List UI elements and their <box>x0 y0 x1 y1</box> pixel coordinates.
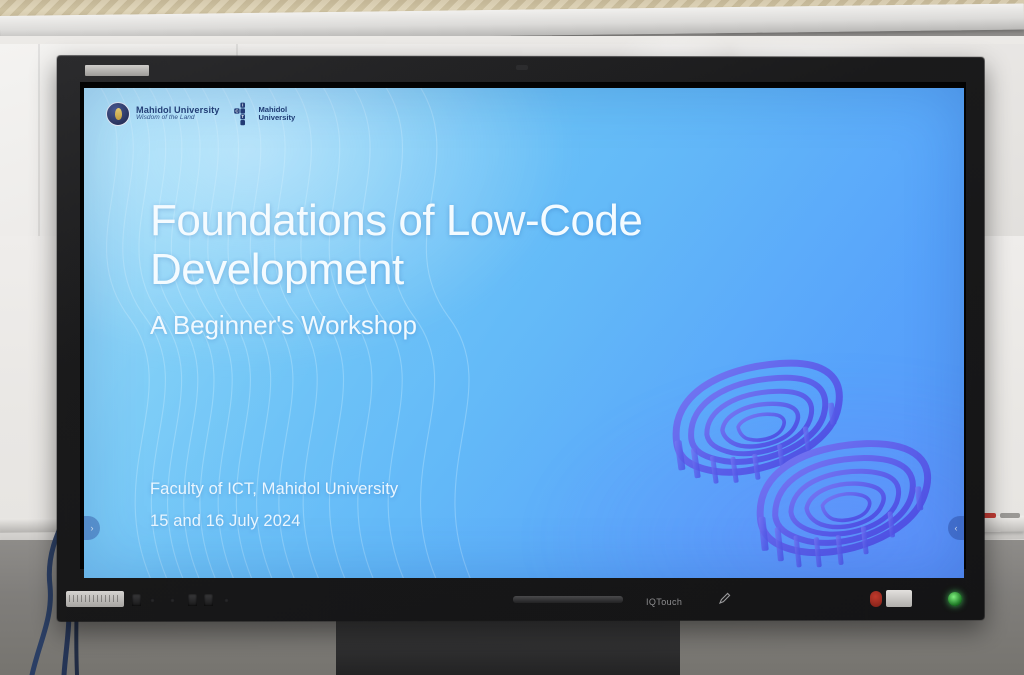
display-stand-base <box>336 612 680 675</box>
hdmi-port[interactable] <box>188 594 197 606</box>
mahidol-seal-icon <box>106 102 130 126</box>
ir-receiver <box>870 591 882 607</box>
slide-subtitle: A Beginner's Workshop <box>150 310 710 341</box>
stylus-icon <box>718 591 732 605</box>
usb-port[interactable] <box>132 594 141 606</box>
photo-scene: IQTouch <box>0 0 1024 675</box>
display-top-label <box>85 65 149 76</box>
slide-footer-dates: 15 and 16 July 2024 <box>150 505 670 537</box>
bezel-indicator <box>170 598 175 603</box>
bezel-indicator <box>150 598 155 603</box>
display-brand-label: IQTouch <box>646 597 682 607</box>
svg-text:T: T <box>242 114 245 119</box>
hdmi-port[interactable] <box>204 594 213 606</box>
io-label-plate <box>66 591 124 607</box>
bezel-control-label <box>886 590 912 607</box>
university-motto: Wisdom of the Land <box>136 115 219 122</box>
slide-footer: Faculty of ICT, Mahidol University 15 an… <box>150 473 670 537</box>
svg-text:I: I <box>243 103 244 108</box>
slide-title: Foundations of Low-Code Development <box>150 196 810 295</box>
slide-footer-organization: Faculty of ICT, Mahidol University <box>150 473 670 505</box>
faculty-of-ict-logo: I C T Mahidol University <box>233 102 295 126</box>
whiteboard-seam <box>38 44 40 236</box>
abstract-layered-leaf-artwork <box>640 356 964 578</box>
slide-logo-row: Mahidol University Wisdom of the Land <box>106 102 295 126</box>
power-led-icon[interactable] <box>948 592 962 606</box>
display-camera <box>516 65 528 70</box>
presentation-slide[interactable]: Mahidol University Wisdom of the Land <box>84 88 964 578</box>
gray-marker <box>1000 513 1020 518</box>
mahidol-university-logo: Mahidol University Wisdom of the Land <box>106 102 219 126</box>
ict-blocks-icon: I C T <box>233 102 253 126</box>
bezel-indicator <box>224 598 229 603</box>
ict-logo-line2: University <box>258 114 295 122</box>
bezel-speaker-grille <box>513 596 623 603</box>
